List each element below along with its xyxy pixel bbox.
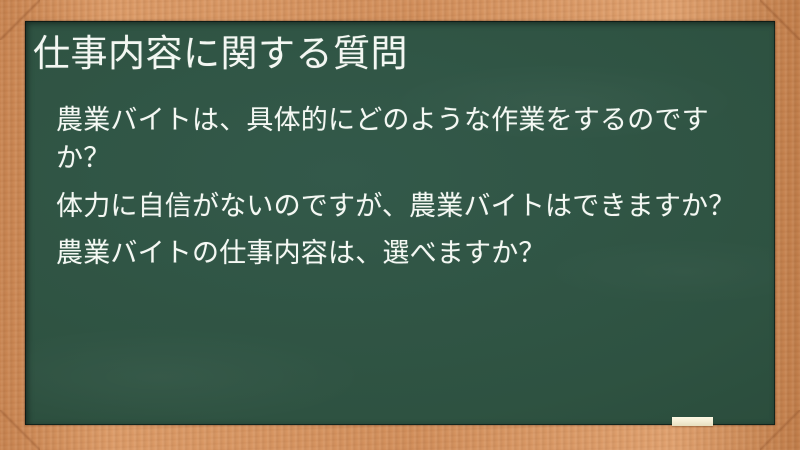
question-item: 体力に自信がないのですが、農業バイトはできますか？	[56, 187, 746, 225]
slide-content: 仕事内容に関する質問 農業バイトは、具体的にどのような作業をするのですか？ 体力…	[25, 21, 775, 425]
chalkboard-surface: 仕事内容に関する質問 農業バイトは、具体的にどのような作業をするのですか？ 体力…	[25, 21, 775, 425]
slide-title: 仕事内容に関する質問	[33, 32, 408, 76]
chalk-stick-icon	[672, 417, 713, 426]
question-item: 農業バイトは、具体的にどのような作業をするのですか？	[56, 101, 746, 178]
question-item: 農業バイトの仕事内容は、選べますか？	[56, 234, 746, 272]
chalkboard-slide: 仕事内容に関する質問 農業バイトは、具体的にどのような作業をするのですか？ 体力…	[0, 0, 800, 450]
question-list: 農業バイトは、具体的にどのような作業をするのですか？ 体力に自信がないのですが、…	[56, 101, 746, 281]
